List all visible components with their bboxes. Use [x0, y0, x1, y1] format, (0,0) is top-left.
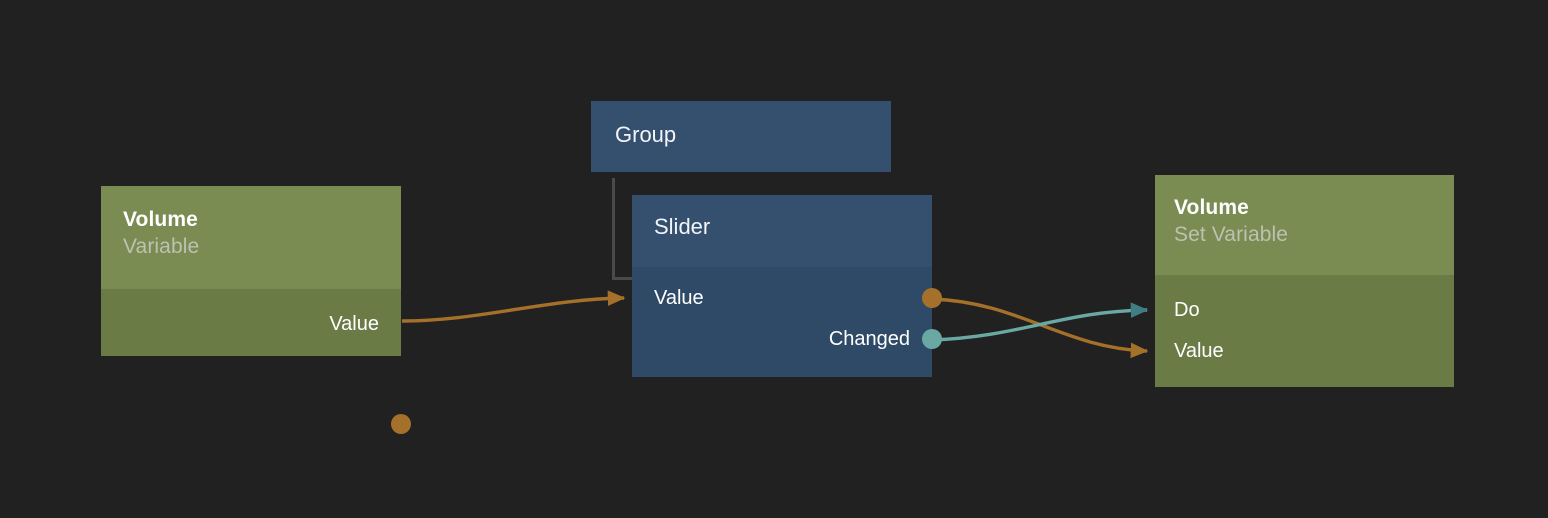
port-row-input-value[interactable]: Value: [1174, 339, 1224, 363]
group-box[interactable]: Group: [591, 101, 891, 172]
port-label-input-do: Do: [1174, 298, 1200, 322]
wire-slider-value-to-set-value: [932, 299, 1147, 351]
group-label: Group: [615, 121, 869, 149]
node-slider[interactable]: Slider Value Changed: [632, 195, 932, 377]
node-graph-canvas[interactable]: Group Volume Variable Value Slider Value…: [0, 0, 1548, 518]
port-knob-slider-changed[interactable]: [922, 329, 942, 349]
node-slider-header: Slider: [632, 195, 932, 267]
wire-slider-changed-to-set-do: [932, 310, 1147, 340]
node-variable-get-subtitle: Variable: [123, 233, 379, 260]
node-variable-set-subtitle: Set Variable: [1174, 221, 1432, 248]
port-row-output-changed[interactable]: Changed: [829, 327, 910, 351]
group-header: Group: [591, 101, 891, 149]
node-variable-set-title: Volume: [1174, 194, 1432, 221]
port-label-value: Value: [329, 312, 379, 336]
node-variable-set-header: Volume Set Variable: [1155, 175, 1454, 275]
port-knob-variable-get-value[interactable]: [391, 414, 411, 434]
node-variable-set-body: Do Value: [1155, 275, 1454, 387]
port-knob-slider-value-out[interactable]: [922, 288, 942, 308]
port-row-output-value[interactable]: Value: [329, 312, 379, 336]
wire-variable-value-to-slider-value: [402, 298, 624, 321]
port-row-input-value[interactable]: Value: [654, 286, 704, 310]
node-variable-get[interactable]: Volume Variable Value: [101, 186, 401, 356]
node-variable-get-body: Value: [101, 289, 401, 356]
port-label-input-value: Value: [654, 286, 704, 310]
node-variable-set[interactable]: Volume Set Variable Do Value: [1155, 175, 1454, 387]
node-variable-get-title: Volume: [123, 206, 379, 233]
node-variable-get-header: Volume Variable: [101, 186, 401, 289]
port-row-input-do[interactable]: Do: [1174, 298, 1200, 322]
node-slider-body: Value Changed: [632, 267, 932, 377]
port-label-output-changed: Changed: [829, 327, 910, 351]
port-label-input-value: Value: [1174, 339, 1224, 363]
node-slider-title: Slider: [654, 213, 910, 241]
